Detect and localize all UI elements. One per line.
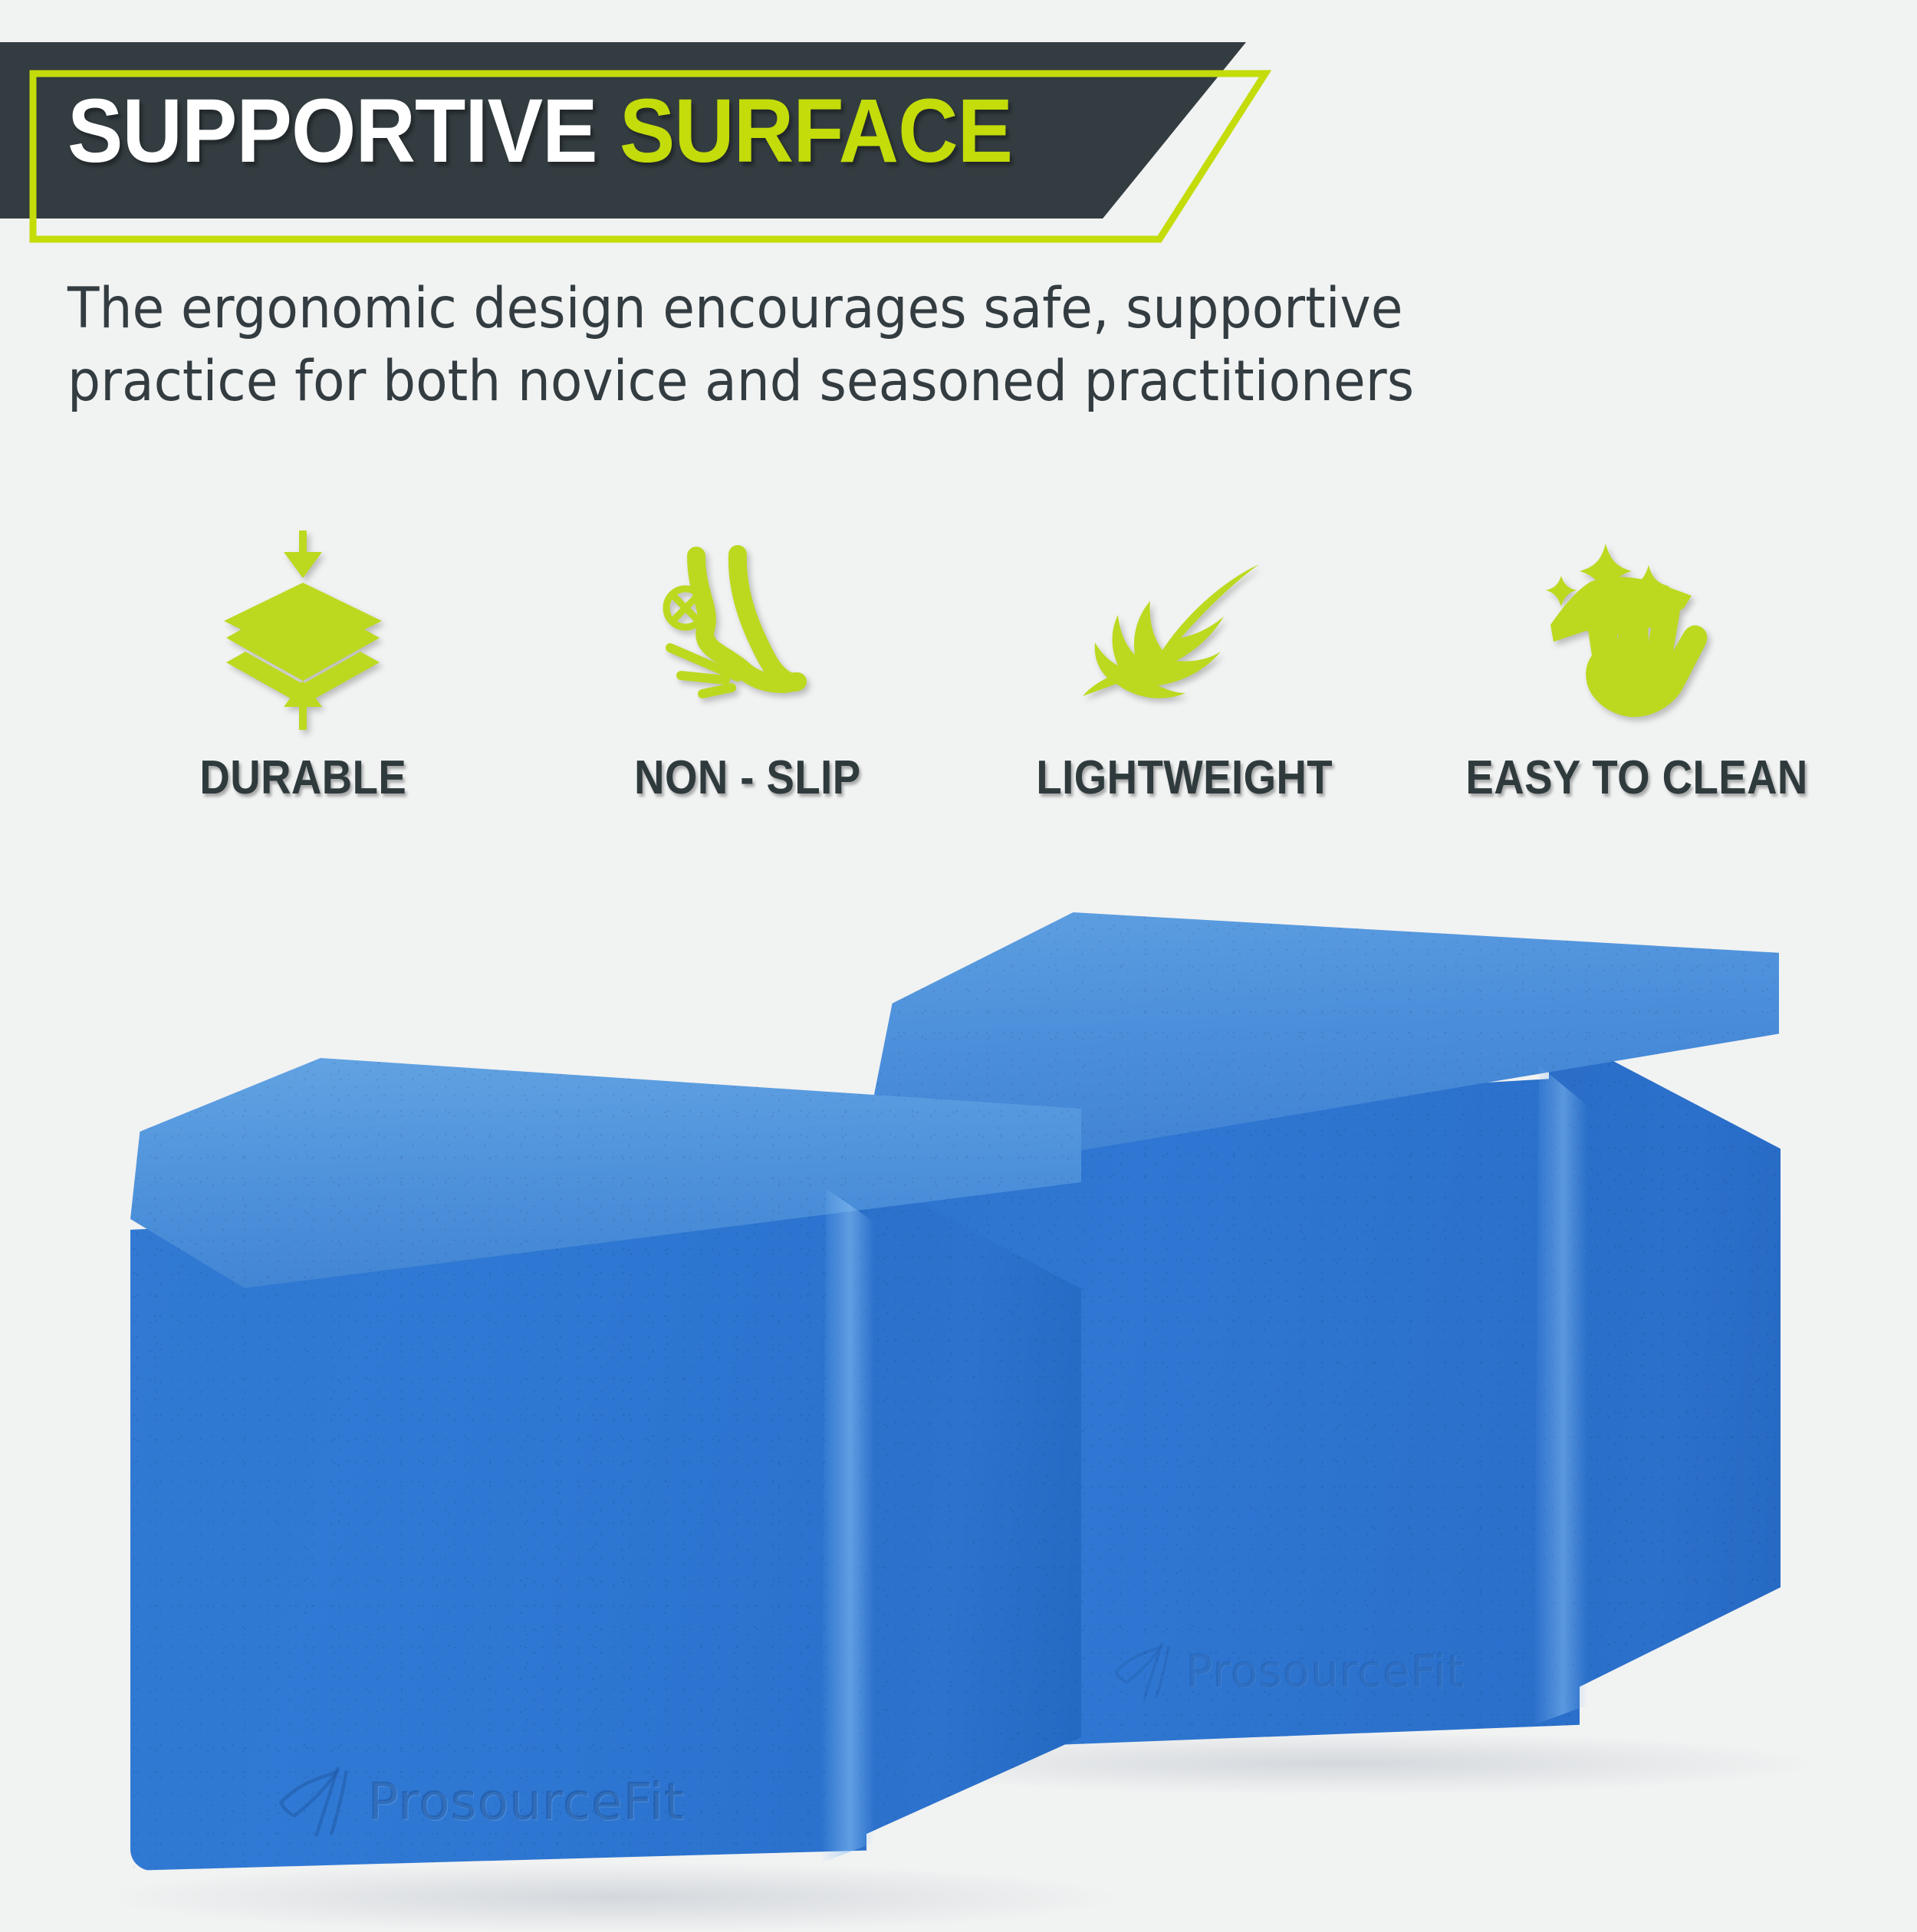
page-title: SUPPORTIVE SURFACE (67, 74, 1012, 189)
layers-stack-compression-icon (215, 527, 391, 734)
brand-wordmark: ProsourceFit (1186, 1645, 1465, 1697)
feature-label-lightweight: LIGHTWEIGHT (1037, 751, 1333, 805)
prosourcefit-swoosh-icon (1112, 1641, 1186, 1701)
block-front-edge-highlight (820, 1188, 874, 1863)
prosourcefit-swoosh-icon (276, 1763, 368, 1840)
subtitle-line-2: practice for both novice and seasoned pr… (67, 345, 1458, 418)
brand-logo-front: ProsourceFit (276, 1763, 685, 1840)
feature-list: DURABLE NON - SLIP (84, 468, 1848, 805)
hand-wiping-sparkle-icon (1541, 527, 1733, 734)
product-image: ProsourceFit ProsourceFit (0, 866, 1917, 1917)
block-back-edge-highlight (1534, 1066, 1587, 1725)
feature-item-nonslip: NON - SLIP (537, 527, 958, 805)
feature-label-durable: DURABLE (199, 751, 406, 805)
header-banner: SUPPORTIVE SURFACE (0, 0, 1319, 253)
feature-item-easyclean: EASY TO CLEAN (1426, 527, 1848, 805)
feather-icon (1081, 527, 1288, 734)
feature-item-durable: DURABLE (92, 527, 514, 805)
subtitle-line-1: The ergonomic design encourages safe, su… (67, 272, 1458, 345)
page-title-part1: SUPPORTIVE (67, 80, 597, 182)
feature-item-lightweight: LIGHTWEIGHT (974, 527, 1396, 805)
foot-no-slip-icon (652, 527, 843, 734)
feature-label-nonslip: NON - SLIP (634, 751, 860, 805)
subtitle-text: The ergonomic design encourages safe, su… (67, 272, 1458, 418)
page-title-part2: SURFACE (620, 80, 1012, 182)
brand-wordmark: ProsourceFit (368, 1773, 685, 1832)
feature-label-easyclean: EASY TO CLEAN (1466, 751, 1808, 805)
brand-logo-back: ProsourceFit (1112, 1641, 1465, 1701)
